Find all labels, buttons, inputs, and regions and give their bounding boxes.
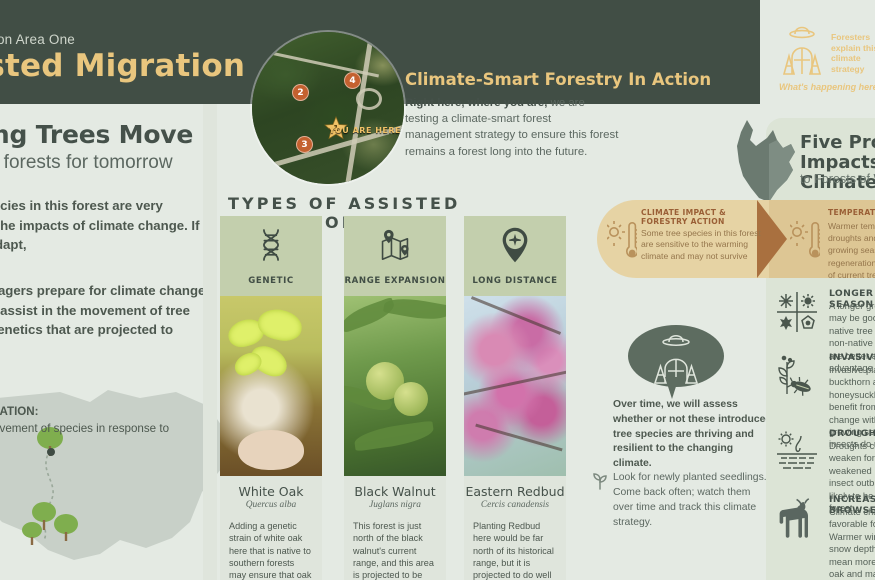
- card-name-white-oak: White Oak: [220, 484, 322, 499]
- wisconsin-state-icon: [733, 118, 805, 204]
- left-subheading: Preparing forests for tomorrow: [0, 152, 236, 174]
- temperature-body: Warmer temperatures, droughts and longer…: [828, 220, 875, 281]
- card-range-expansion[interactable]: RANGE EXPANSION Black Walnut Juglans nig…: [344, 216, 446, 580]
- assisted-migration-definition: ASSISTED MIGRATION: the intentional move…: [0, 404, 208, 438]
- left-paragraph-2: As forest managers prepare for climate c…: [0, 281, 210, 359]
- black-walnut-photo: [344, 296, 446, 476]
- card-description: Planting Redbud here would be far north …: [473, 520, 557, 580]
- assessment-text: Over time, we will assess whether or not…: [613, 398, 773, 472]
- card-icon-wrap: [344, 216, 446, 274]
- right-panel-subtitle: to Forests of Wisconsin: [800, 172, 875, 186]
- column-divider: [203, 104, 217, 580]
- card-label-long-distance: LONG DISTANCE: [464, 274, 566, 296]
- card-label-genetic: GENETIC: [220, 274, 322, 296]
- speech-bubble-tail: [665, 377, 679, 399]
- eastern-redbud-photo: [464, 296, 566, 476]
- forester-badge-text: Foresters explain this climate strategy: [831, 32, 875, 75]
- seasons-icon: [775, 290, 819, 334]
- infographic-poster: Demonstration Area One Assisted Migratio…: [0, 0, 875, 580]
- card-icon-wrap: [464, 216, 566, 274]
- card-icon-wrap: [220, 216, 322, 274]
- map-pins-icon: [377, 229, 413, 261]
- thermometer-sun-icon: [790, 216, 820, 262]
- aerial-road-loop: [356, 88, 382, 110]
- card-scientific-name: Juglans nigra: [344, 500, 446, 510]
- definition-title: ASSISTED MIGRATION:: [0, 405, 39, 418]
- card-name-black-walnut: Black Walnut: [344, 484, 446, 499]
- aerial-site-map[interactable]: 2 3 4 1 YOU ARE HERE: [252, 32, 404, 184]
- dna-icon: [256, 227, 286, 263]
- banner-body: Some tree species in this forest are sen…: [641, 228, 763, 262]
- card-long-distance[interactable]: LONG DISTANCE Eastern Redbud Cercis cana…: [464, 216, 566, 580]
- seedling-icon: [591, 470, 609, 490]
- impact-heading: DROUGHT: [829, 428, 875, 439]
- left-paragraph-1: Some tree species in this forest are ver…: [0, 196, 210, 255]
- card-label-range-expansion: RANGE EXPANSION: [344, 274, 446, 296]
- card-scientific-name: Cercis canadensis: [464, 500, 566, 510]
- climate-smart-title: Climate-Smart Forestry In Action: [405, 70, 745, 89]
- left-heading: Helping Trees Move: [0, 120, 220, 149]
- thermometer-sun-icon: [607, 216, 637, 262]
- left-column: Helping Trees Move Preparing forests for…: [0, 104, 205, 580]
- impact-body: Climate change is favorable for deer. Wa…: [829, 506, 875, 580]
- impact-heading: INVASIVE SPECIES: [829, 352, 875, 363]
- aerial-marker-4[interactable]: 4: [344, 72, 361, 89]
- airplane-pin-icon: [501, 226, 529, 264]
- banner-heading: CLIMATE IMPACT & FORESTRY ACTION: [641, 208, 766, 227]
- card-name-eastern-redbud: Eastern Redbud: [464, 484, 566, 499]
- card-description: Adding a genetic strain of white oak her…: [229, 520, 313, 580]
- climate-smart-lead: Right here, where you are,: [405, 97, 547, 109]
- oak-seedling-photo: [220, 296, 322, 476]
- forester-badge-icon: [778, 22, 826, 76]
- forester-badge-subtitle: What's happening here: [779, 82, 875, 92]
- temperature-heading: TEMPERATURE: [828, 208, 875, 217]
- deer-icon: [775, 496, 819, 540]
- card-description: This forest is just north of the black w…: [353, 520, 437, 580]
- aerial-marker-3[interactable]: 3: [296, 136, 313, 153]
- lookfor-callout: Look for newly planted seedlings. Come b…: [613, 470, 773, 530]
- card-genetic[interactable]: GENETIC White Oak Quercus alba Adding a …: [220, 216, 322, 580]
- you-are-here-label: YOU ARE HERE: [310, 126, 404, 135]
- climate-smart-body: Right here, where you are, we are testin…: [405, 95, 620, 160]
- invasive-insect-icon: [775, 354, 819, 398]
- drought-icon: [775, 430, 819, 474]
- aerial-marker-2[interactable]: 2: [292, 84, 309, 101]
- definition-body: the intentional movement of species in r…: [0, 422, 169, 435]
- card-scientific-name: Quercus alba: [220, 500, 322, 510]
